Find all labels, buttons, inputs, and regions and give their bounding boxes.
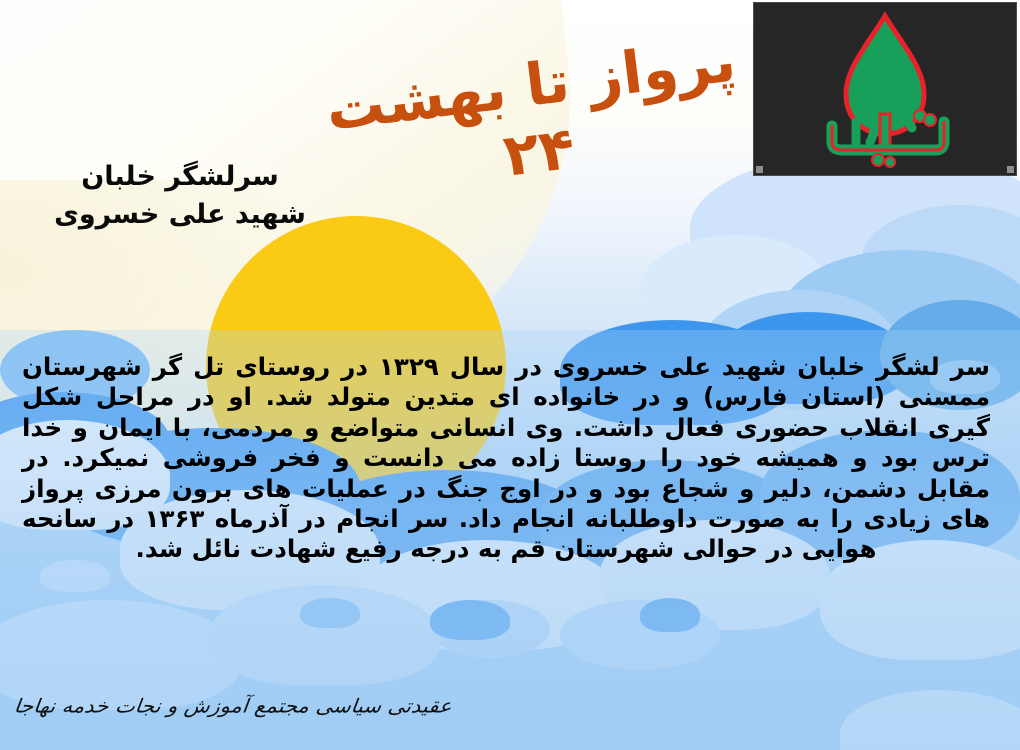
- slide-canvas: پرواز تا بهشت ۲۴ سرلشگر خلبان شهید علی خ…: [0, 0, 1020, 750]
- selection-handle-bottom-left[interactable]: [756, 166, 763, 173]
- footer-credit: عقیدتی سیاسی مجتمع آموزش و نجات خدمه نها…: [13, 695, 453, 717]
- name-line: شهید علی خسروی: [30, 196, 330, 234]
- martyr-name-block: سرلشگر خلبان شهید علی خسروی: [30, 158, 330, 235]
- martyr-logo-panel[interactable]: [753, 2, 1017, 176]
- biography-paragraph: سر لشگر خلبان شهید علی خسروی در سال ۱۳۲۹…: [22, 352, 990, 565]
- selection-handle-bottom-right[interactable]: [1007, 166, 1014, 173]
- rank-line: سرلشگر خلبان: [30, 158, 330, 196]
- martyr-tulip-icon: [790, 10, 980, 168]
